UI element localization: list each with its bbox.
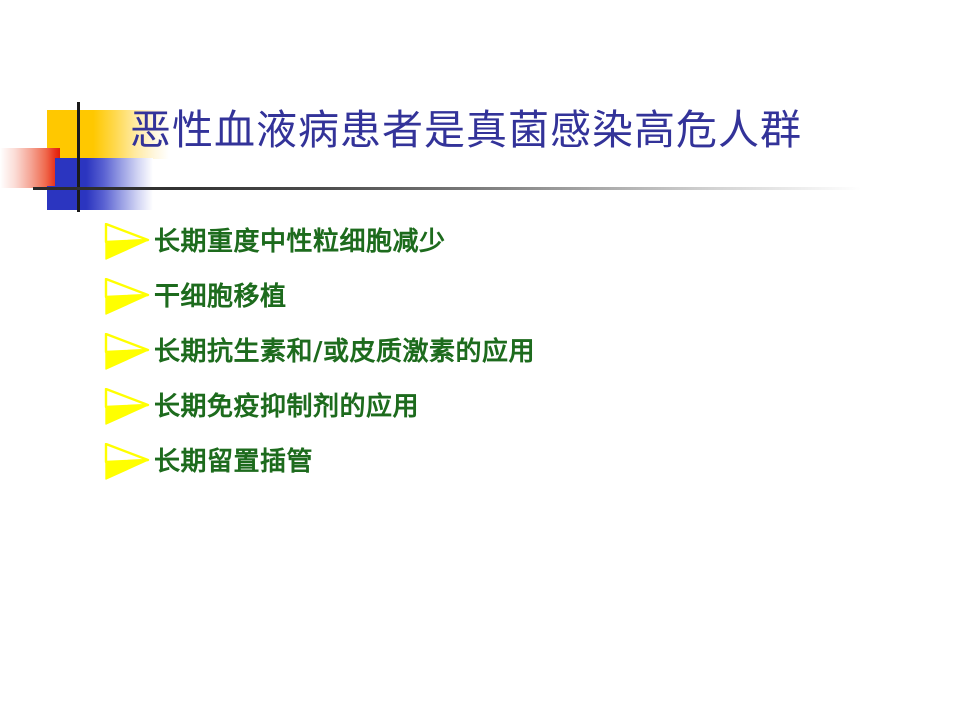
list-item-label: 干细胞移植	[154, 282, 924, 312]
bullet-list: 长期重度中性粒细胞减少 干细胞移植 长期抗生素和/或皮质激素的应用	[104, 214, 924, 489]
list-item-label: 长期抗生素和/或皮质激素的应用	[154, 337, 924, 367]
title-underline-rule	[33, 187, 861, 190]
ornament-red-block	[0, 148, 60, 188]
right-arrowhead-icon	[104, 388, 154, 426]
list-item: 长期留置插管	[104, 434, 924, 489]
ornament-blue-block	[55, 158, 153, 210]
right-arrowhead-icon	[104, 333, 154, 371]
right-arrowhead-icon	[104, 443, 154, 481]
list-item: 干细胞移植	[104, 269, 924, 324]
list-item-label: 长期免疫抑制剂的应用	[154, 392, 924, 422]
ornament-vertical-rule	[77, 102, 80, 212]
list-item-label: 长期重度中性粒细胞减少	[154, 227, 924, 257]
list-item: 长期重度中性粒细胞减少	[104, 214, 924, 269]
list-item: 长期抗生素和/或皮质激素的应用	[104, 324, 924, 379]
right-arrowhead-icon	[104, 223, 154, 261]
ornament-blue-stub	[47, 186, 63, 210]
slide-title: 恶性血液病患者是真菌感染高危人群	[130, 101, 930, 159]
list-item-label: 长期留置插管	[154, 447, 924, 477]
list-item: 长期免疫抑制剂的应用	[104, 379, 924, 434]
right-arrowhead-icon	[104, 278, 154, 316]
slide-canvas: 恶性血液病患者是真菌感染高危人群 长期重度中性粒细胞减少 干细胞移植	[0, 0, 960, 720]
